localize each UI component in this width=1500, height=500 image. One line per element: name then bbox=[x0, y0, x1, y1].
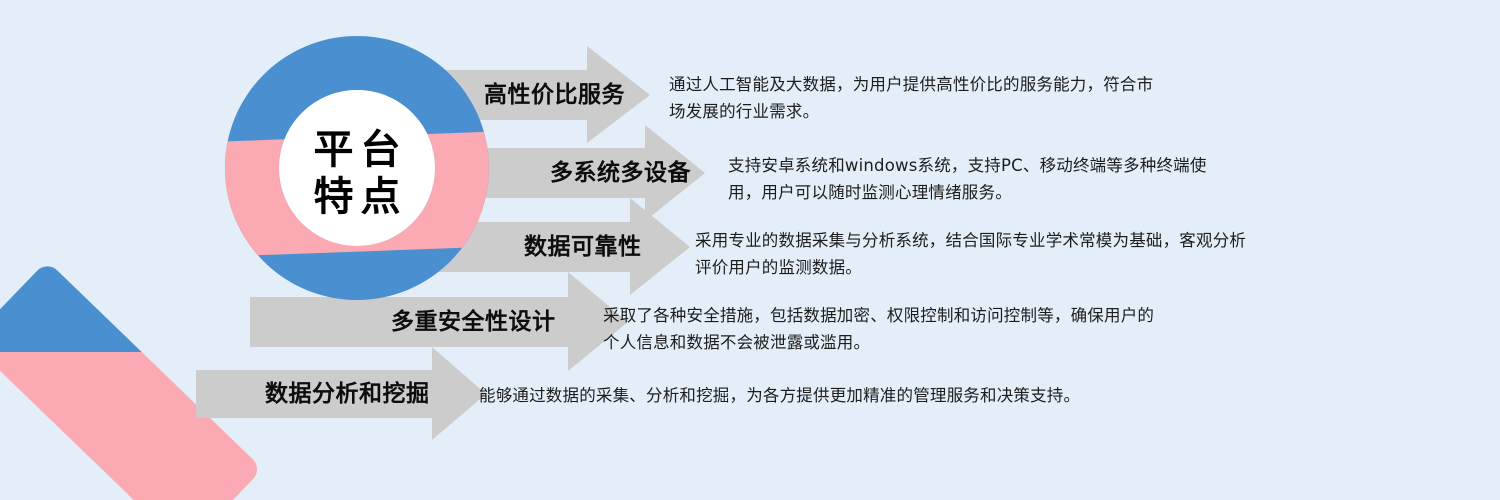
center-title: 平台 特点 bbox=[257, 127, 457, 221]
arrow-label-2: 多系统多设备 bbox=[550, 162, 691, 185]
description-1: 通过人工智能及大数据，为用户提供高性价比的服务能力，符合市 场发展的行业需求。 bbox=[669, 72, 1289, 125]
description-5: 能够通过数据的采集、分析和挖掘，为各方提供更加精准的管理服务和决策支持。 bbox=[479, 383, 1239, 410]
description-2-line1: 支持安卓系统和windows系统，支持PC、移动终端等多种终端使 bbox=[728, 153, 1348, 180]
description-3: 采用专业的数据采集与分析系统，结合国际专业学术常模为基础，客观分析 评价用户的监… bbox=[695, 228, 1395, 281]
description-3-line1: 采用专业的数据采集与分析系统，结合国际专业学术常模为基础，客观分析 bbox=[695, 228, 1395, 255]
description-1-line1: 通过人工智能及大数据，为用户提供高性价比的服务能力，符合市 bbox=[669, 72, 1289, 99]
center-title-line1: 平台 bbox=[257, 127, 457, 174]
arrow-label-4: 多重安全性设计 bbox=[391, 311, 556, 334]
infographic-canvas: 平台 特点 高性价比服务 多系统多设备 数据可靠性 多重安全性设计 数据分析和挖… bbox=[0, 0, 1500, 500]
description-2: 支持安卓系统和windows系统，支持PC、移动终端等多种终端使 用，用户可以随… bbox=[728, 153, 1348, 206]
description-4-line1: 采取了各种安全措施，包括数据加密、权限控制和访问控制等，确保用户的 bbox=[603, 303, 1303, 330]
description-5-line1: 能够通过数据的采集、分析和挖掘，为各方提供更加精准的管理服务和决策支持。 bbox=[479, 383, 1239, 410]
description-4-line2: 个人信息和数据不会被泄露或滥用。 bbox=[603, 330, 1303, 357]
description-4: 采取了各种安全措施，包括数据加密、权限控制和访问控制等，确保用户的 个人信息和数… bbox=[603, 303, 1303, 356]
arrow-label-5: 数据分析和挖掘 bbox=[265, 383, 430, 406]
description-3-line2: 评价用户的监测数据。 bbox=[695, 255, 1395, 282]
arrow-label-1: 高性价比服务 bbox=[484, 84, 625, 107]
center-title-line2: 特点 bbox=[257, 174, 457, 221]
description-2-line2: 用，用户可以随时监测心理情绪服务。 bbox=[728, 180, 1348, 207]
arrow-label-3: 数据可靠性 bbox=[524, 236, 642, 259]
description-1-line2: 场发展的行业需求。 bbox=[669, 99, 1289, 126]
